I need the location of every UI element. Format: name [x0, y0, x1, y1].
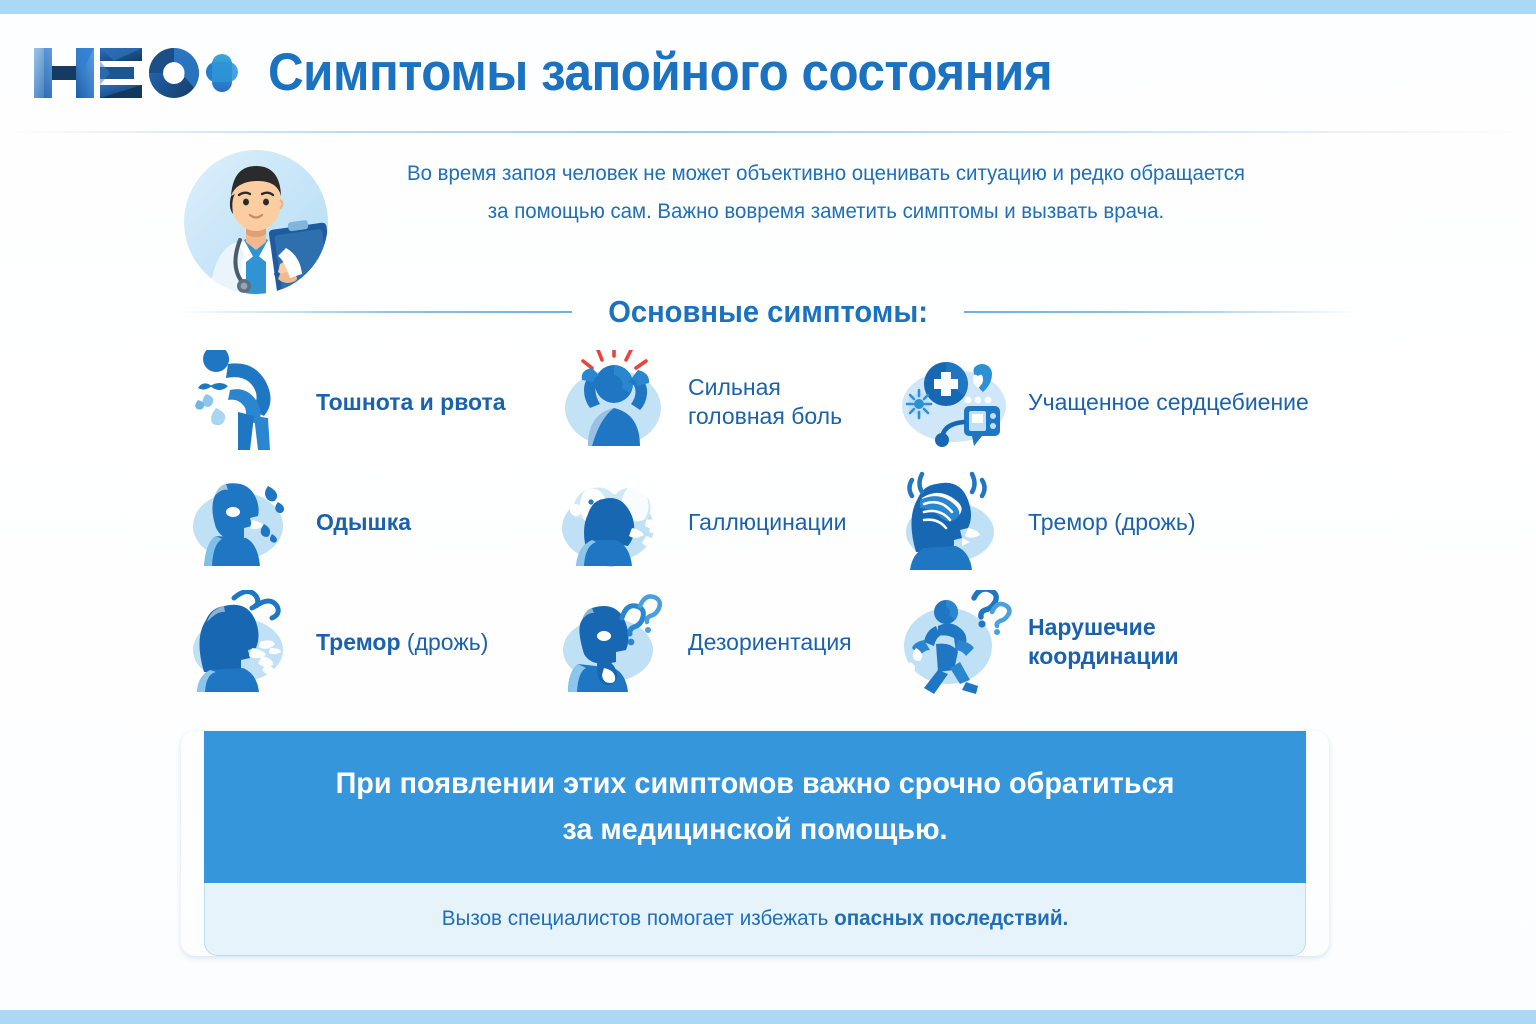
symptom-item-tachycardia: Учащенное сердцебиение	[898, 342, 1346, 462]
section-rule-left	[176, 311, 572, 313]
hallucination-ghost-icon	[558, 470, 676, 574]
callout-line-1: При появлении этих симптомов важно срочн…	[262, 761, 1249, 807]
heart-monitor-cross-icon	[898, 350, 1016, 454]
symptom-label: Учащенное сердцебиение	[1028, 388, 1309, 417]
callout-footer-bold: опасных последствий.	[834, 906, 1068, 930]
person-vomiting-icon	[186, 350, 304, 454]
bottom-color-band	[0, 1010, 1536, 1024]
symptom-label: Тошнота и рвота	[316, 388, 506, 417]
infographic-page: Симптомы запойного состояния	[0, 0, 1536, 1024]
tremor-head-hands-icon	[898, 470, 1016, 574]
section-heading: Основные симптомы:	[176, 289, 1360, 335]
symptom-label-line-1: Дезориентация	[688, 629, 852, 655]
symptom-item-hallucinations: Галлюцинации	[558, 462, 898, 582]
doctor-with-clipboard-icon	[176, 140, 346, 305]
symptom-label-line-1: Одышка	[316, 509, 411, 535]
tremor-sweating-head-icon	[186, 590, 304, 694]
symptom-label-line-1: Сильная	[688, 373, 842, 402]
neo-plus-logo	[30, 40, 240, 106]
symptom-label-suffix: (дрожь)	[401, 629, 489, 655]
intro-line-1: Во время запоя человек не может объектив…	[351, 154, 1301, 192]
header: Симптомы запойного состояния	[0, 14, 1536, 131]
symptom-label: Дезориентация	[688, 628, 852, 657]
symptom-item-disorientation: Дезориентация	[558, 582, 898, 702]
symptom-label-line-1: Учащенное сердцебиение	[1028, 389, 1309, 415]
coordination-loss-walking-icon	[898, 590, 1016, 694]
symptom-item-tremor-sweating: Тремор (дрожь)	[186, 582, 558, 702]
symptom-item-shortness-of-breath: Одышка	[186, 462, 558, 582]
symptom-label: Галлюцинации	[688, 508, 846, 537]
symptom-label-line-2: головная боль	[688, 402, 842, 431]
symptom-grid: Тошнота и рвота Сильная головная боль	[186, 342, 1346, 702]
symptom-item-headache: Сильная головная боль	[558, 342, 898, 462]
top-color-band	[0, 0, 1536, 14]
callout-footer-plain: Вызов специалистов помогает избежать	[442, 906, 834, 930]
callout-main-message: При появлении этих симптомов важно срочн…	[204, 731, 1306, 883]
intro-line-2: за помощью сам. Важно вовремя заметить с…	[351, 192, 1301, 230]
intro-paragraph: Во время запоя человек не может объектив…	[351, 154, 1301, 230]
callout-box: При появлении этих симптомов важно срочн…	[181, 731, 1329, 956]
section-heading-label: Основные симптомы:	[608, 294, 928, 330]
callout-line-2: за медицинской помощью.	[262, 807, 1249, 853]
symptom-label: Тремор (дрожь)	[1028, 508, 1196, 537]
symptom-label-line-1: Тошнота и рвота	[316, 389, 506, 415]
symptom-item-coordination-loss: Нарушечие координации	[898, 582, 1346, 702]
shortness-of-breath-icon	[186, 470, 304, 574]
callout-footer-note: Вызов специалистов помогает избежать опа…	[204, 883, 1306, 956]
symptom-label-line-1: Тремор (дрожь)	[1028, 509, 1196, 535]
symptom-label-line-1: Галлюцинации	[688, 509, 846, 535]
symptom-item-nausea: Тошнота и рвота	[186, 342, 558, 462]
symptom-label-line-2: координации	[1028, 642, 1179, 671]
section-rule-right	[964, 311, 1360, 313]
symptom-label: Нарушечие координации	[1028, 613, 1179, 671]
symptom-label: Тремор (дрожь)	[316, 628, 488, 657]
header-divider	[0, 131, 1536, 133]
symptom-label: Сильная головная боль	[688, 373, 842, 431]
symptom-item-tremor-head: Тремор (дрожь)	[898, 462, 1346, 582]
headache-head-clutch-icon	[558, 350, 676, 454]
disorientation-question-icon	[558, 590, 676, 694]
symptom-label-line-1: Нарушечие	[1028, 613, 1179, 642]
intro-section: Во время запоя человек не может объектив…	[176, 140, 1360, 292]
page-title: Симптомы запойного состояния	[268, 42, 1052, 103]
symptom-label-line-1: Тремор	[316, 629, 401, 655]
symptom-label: Одышка	[316, 508, 411, 537]
doctor-illustration-wrapper	[176, 140, 346, 305]
